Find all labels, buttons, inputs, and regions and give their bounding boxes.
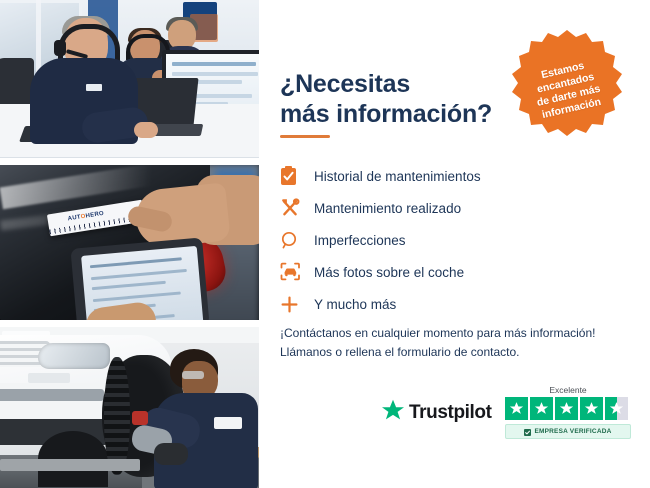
trustpilot-rating-label: Excelente <box>505 385 631 395</box>
page-title: ¿Necesitas más información? <box>280 69 510 130</box>
crossed-tools-icon <box>280 198 314 218</box>
photo-mechanic-checking-tire-on-lift <box>0 327 259 488</box>
ruler-brand-prefix: AUT <box>67 214 81 222</box>
list-item-label: Imperfecciones <box>314 233 406 248</box>
trustpilot-wordmark: Trustpilot <box>409 402 492 424</box>
list-item-label: Más fotos sobre el coche <box>314 265 464 280</box>
list-item: Imperfecciones <box>280 224 640 256</box>
list-item: Historial de mantenimientos <box>280 160 640 192</box>
star-filled-3 <box>555 397 578 420</box>
star-filled-4 <box>580 397 603 420</box>
ruler-brand-suffix: HERO <box>85 211 104 220</box>
photo-inspection-ruler-autohero-on-car: AUTOHERO <box>0 165 259 320</box>
star-filled-2 <box>530 397 553 420</box>
promo-card: AUTOHERO <box>0 0 650 488</box>
list-item-label: Y mucho más <box>314 297 396 312</box>
list-item-label: Historial de mantenimientos <box>314 169 481 184</box>
plus-icon <box>280 295 314 314</box>
magnifier-icon <box>280 231 314 250</box>
verified-company-badge: EMPRESA VERIFICADA <box>505 424 631 439</box>
star-filled-1 <box>505 397 528 420</box>
support-badge: Estamos encantados de darte más informac… <box>506 28 628 150</box>
list-item: Más fotos sobre el coche <box>280 256 640 288</box>
photo-call-center-agents-with-headsets <box>0 0 259 158</box>
contact-paragraph-line-2: Llámanos o rellena el formulario de cont… <box>280 345 519 359</box>
clipboard-check-icon <box>280 166 314 186</box>
car-photo-frame-icon <box>280 262 314 282</box>
trustpilot-star-icon <box>381 399 405 427</box>
list-item: Mantenimiento realizado <box>280 192 640 224</box>
verified-company-label: EMPRESA VERIFICADA <box>534 428 611 435</box>
trustpilot-score: Excelente <box>505 385 631 439</box>
photo-strip: AUTOHERO <box>0 0 259 488</box>
feature-list: Historial de mantenimientos Mantenimient… <box>280 160 640 320</box>
trustpilot-rating: Trustpilot Excelente <box>381 385 631 447</box>
check-square-icon <box>524 423 531 441</box>
contact-paragraph: ¡Contáctanos en cualquier momento para m… <box>280 324 630 363</box>
page-title-line-2: más información? <box>280 100 492 128</box>
content-panel: ¿Necesitas más información? Estamos enca… <box>259 0 650 488</box>
list-item: Y mucho más <box>280 288 640 320</box>
list-item-label: Mantenimiento realizado <box>314 201 461 216</box>
star-half-5 <box>605 397 628 420</box>
page-title-line-1: ¿Necesitas <box>280 70 410 98</box>
title-divider <box>280 135 330 138</box>
trustpilot-stars <box>505 397 631 420</box>
contact-paragraph-line-1: ¡Contáctanos en cualquier momento para m… <box>280 326 596 340</box>
trustpilot-logo: Trustpilot <box>381 399 492 427</box>
